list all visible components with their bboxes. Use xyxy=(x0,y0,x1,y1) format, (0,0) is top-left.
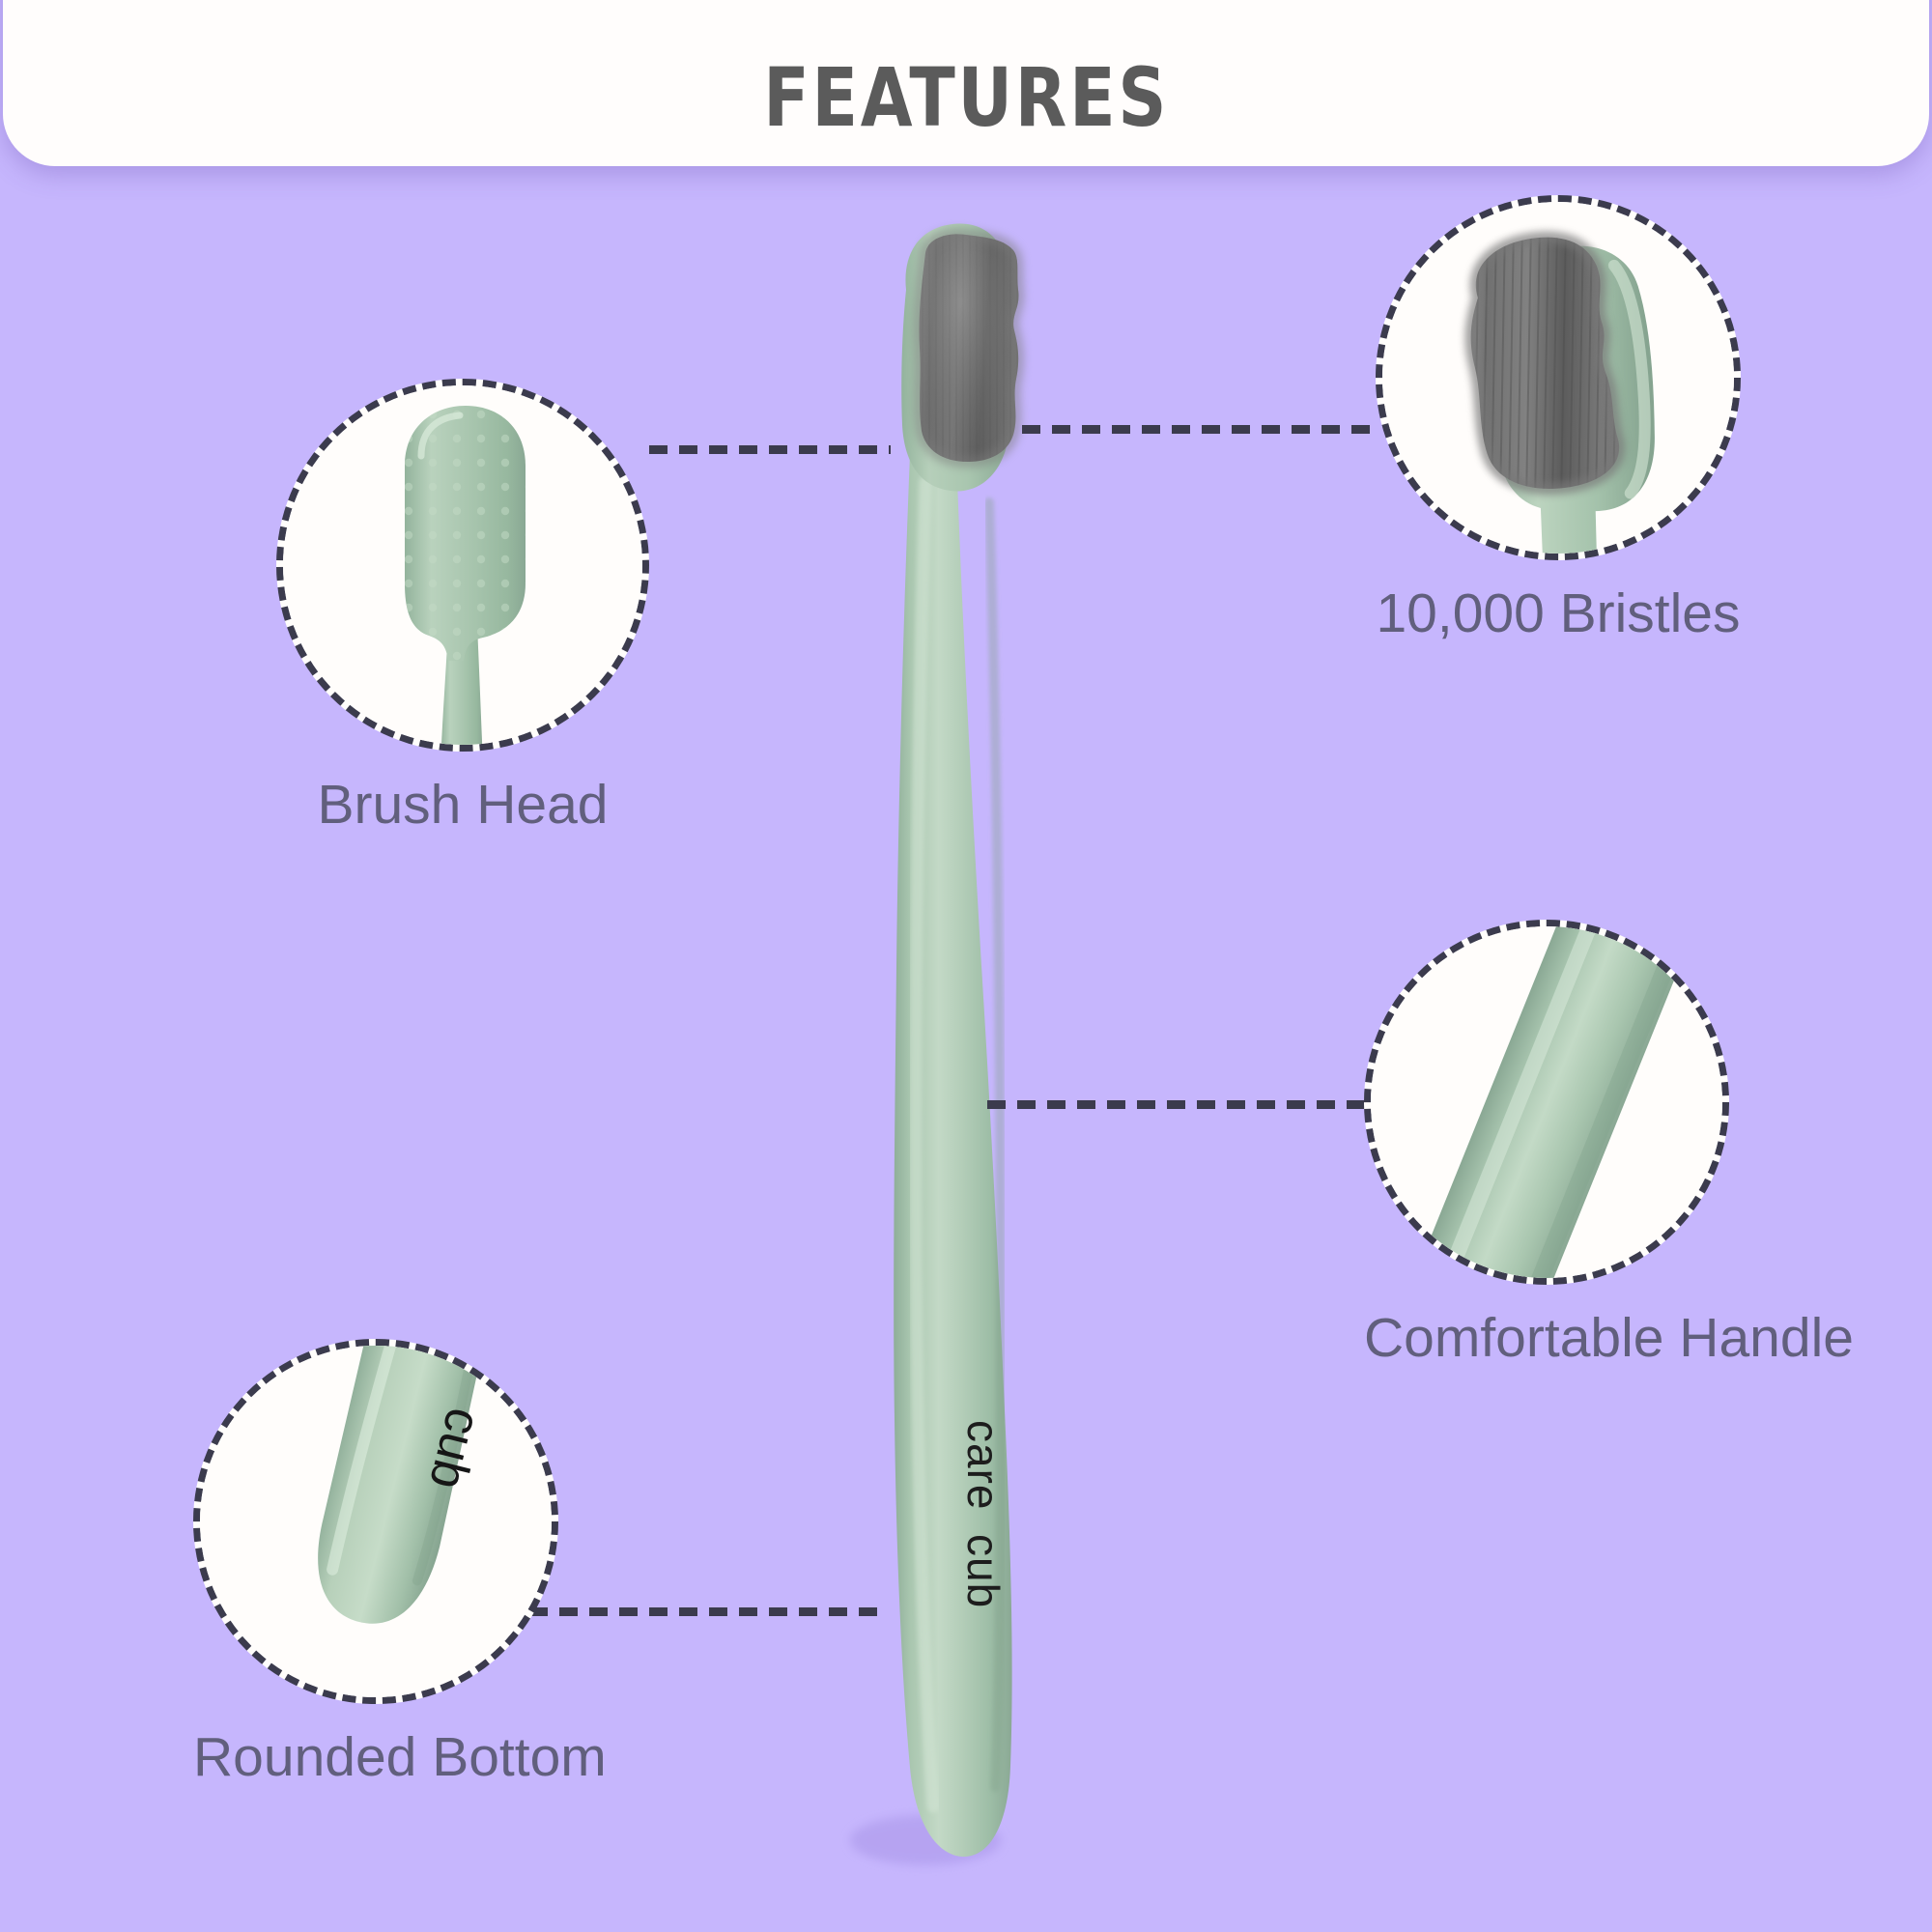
connector-rounded-bottom xyxy=(529,1607,879,1616)
callout-rounded-bottom[interactable]: cub Rounded Bottom xyxy=(193,1339,558,1789)
comfortable-handle-detail-image xyxy=(1364,920,1729,1285)
page-title: FEATURES xyxy=(763,50,1169,145)
callout-label-rounded-bottom: Rounded Bottom xyxy=(193,1725,558,1789)
features-banner: FEATURES xyxy=(3,0,1929,166)
brush-head-detail-circle xyxy=(276,379,649,752)
svg-text:cub: cub xyxy=(958,1534,1009,1608)
connector-brush-head xyxy=(649,445,891,454)
bristles-detail-image xyxy=(1376,195,1741,560)
connector-comfortable-handle xyxy=(987,1100,1370,1109)
brush-head-detail-image xyxy=(276,379,649,752)
callout-brush-head[interactable]: Brush Head xyxy=(276,379,649,837)
connector-bristles xyxy=(1022,425,1381,434)
rounded-bottom-detail-circle: cub xyxy=(193,1339,558,1704)
rounded-bottom-detail-image: cub xyxy=(193,1339,558,1704)
svg-text:care: care xyxy=(958,1420,1009,1510)
callout-comfortable-handle[interactable]: Comfortable Handle xyxy=(1364,920,1729,1370)
callout-label-brush-head: Brush Head xyxy=(276,773,649,837)
callout-label-bristles: 10,000 Bristles xyxy=(1376,582,1741,645)
callout-bristles[interactable]: 10,000 Bristles xyxy=(1376,195,1741,645)
bristles-detail-circle xyxy=(1376,195,1741,560)
comfortable-handle-detail-circle xyxy=(1364,920,1729,1285)
callout-label-comfortable-handle: Comfortable Handle xyxy=(1364,1306,1729,1370)
